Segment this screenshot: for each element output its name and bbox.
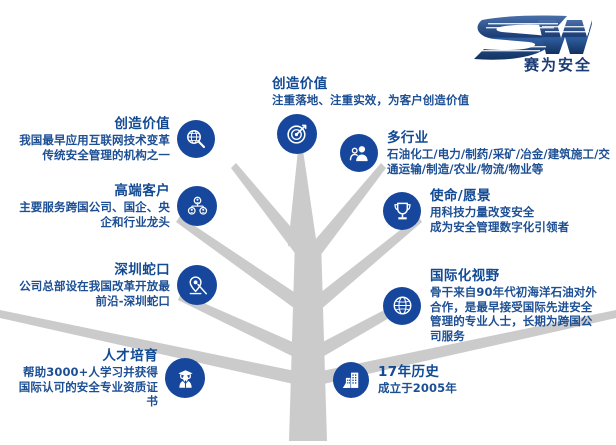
node-guoji[interactable]: 国际化视野 骨干来自90年代初海洋石油对外合作，是最早接受国际先进安全管理的专业… bbox=[383, 268, 598, 343]
logo-wordmark: 赛为安全 bbox=[524, 54, 592, 75]
node-title: 使命/愿景 bbox=[430, 188, 491, 205]
node-title: 创造价值 bbox=[272, 76, 328, 93]
node-text-block: 国际化视野 骨干来自90年代初海洋石油对外合作，是最早接受国际先进安全管理的专业… bbox=[430, 268, 598, 343]
node-description: 帮助3000+人学习并获得国际认可的安全专业资质证书 bbox=[18, 365, 158, 409]
node-rencai[interactable]: 人才培育 帮助3000+人学习并获得国际认可的安全专业资质证书 bbox=[18, 348, 205, 409]
location-pin-icon[interactable] bbox=[177, 265, 217, 305]
node-lishi[interactable]: 17年历史 成立于2005年 bbox=[333, 362, 457, 398]
node-title: 创造价值 bbox=[114, 116, 170, 133]
graduate-worker-icon[interactable] bbox=[165, 358, 205, 398]
org-network-icon[interactable] bbox=[177, 186, 217, 226]
building-icon[interactable] bbox=[333, 362, 369, 398]
node-chuangzao-left[interactable]: 创造价值 我国最早应用互联网技术变革传统安全管理的机构之一 bbox=[18, 116, 215, 162]
node-text-block: 17年历史 成立于2005年 bbox=[378, 364, 457, 396]
globe-magnifier-icon[interactable] bbox=[177, 120, 215, 158]
node-description: 主要服务跨国公司、国企、央企和行业龙头 bbox=[18, 200, 170, 229]
node-title: 人才培育 bbox=[102, 348, 158, 365]
node-text-block: 创造价值 我国最早应用互联网技术变革传统安全管理的机构之一 bbox=[18, 116, 170, 162]
node-text-block: 深圳蛇口 公司总部设在我国改革开放最前沿-深圳蛇口 bbox=[18, 262, 170, 308]
node-title: 国际化视野 bbox=[430, 268, 500, 285]
node-title: 深圳蛇口 bbox=[114, 262, 170, 279]
node-shiming[interactable]: 使命/愿景 用科技力量改变安全 成为安全管理数字化引领者 bbox=[383, 188, 569, 234]
node-description: 成立于2005年 bbox=[378, 381, 457, 396]
node-description: 注重落地、注重实效，为客户创造价值 bbox=[272, 93, 469, 108]
node-text-block: 多行业 石油化工/电力/制药/采矿/冶金/建筑施工/交通运输/制造/农业/物流/… bbox=[387, 130, 616, 176]
branch-upper-right bbox=[309, 163, 386, 256]
node-description: 骨干来自90年代初海洋石油对外合作，是最早接受国际先进安全管理的专业人士，长期为… bbox=[430, 285, 598, 343]
node-text-block: 使命/愿景 用科技力量改变安全 成为安全管理数字化引领者 bbox=[430, 188, 569, 234]
trophy-icon[interactable] bbox=[383, 192, 421, 230]
globe-icon[interactable] bbox=[383, 287, 421, 325]
tree-trunk bbox=[289, 240, 327, 441]
node-description: 用科技力量改变安全 成为安全管理数字化引领者 bbox=[430, 205, 569, 234]
node-shekou[interactable]: 深圳蛇口 公司总部设在我国改革开放最前沿-深圳蛇口 bbox=[18, 262, 217, 308]
node-description: 石油化工/电力/制药/采矿/冶金/建筑施工/交通运输/制造/农业/物流/物业等 bbox=[387, 147, 616, 176]
node-title: 高端客户 bbox=[114, 183, 170, 200]
node-title: 17年历史 bbox=[378, 364, 439, 381]
node-title: 多行业 bbox=[387, 130, 429, 147]
node-text-block: 创造价值 注重落地、注重实效，为客户创造价值 bbox=[272, 76, 469, 108]
node-gaoduan[interactable]: 高端客户 主要服务跨国公司、国企、央企和行业龙头 bbox=[18, 183, 217, 229]
node-description: 我国最早应用互联网技术变革传统安全管理的机构之一 bbox=[18, 133, 170, 162]
users-group-icon[interactable] bbox=[340, 134, 378, 172]
node-description: 公司总部设在我国改革开放最前沿-深圳蛇口 bbox=[18, 279, 170, 308]
node-text-block: 人才培育 帮助3000+人学习并获得国际认可的安全专业资质证书 bbox=[18, 348, 158, 409]
company-logo: 赛为安全 bbox=[466, 10, 592, 72]
node-duohangye[interactable]: 多行业 石油化工/电力/制药/采矿/冶金/建筑施工/交通运输/制造/农业/物流/… bbox=[340, 130, 616, 176]
node-text-block: 高端客户 主要服务跨国公司、国企、央企和行业龙头 bbox=[18, 183, 170, 229]
target-icon[interactable] bbox=[277, 114, 317, 154]
